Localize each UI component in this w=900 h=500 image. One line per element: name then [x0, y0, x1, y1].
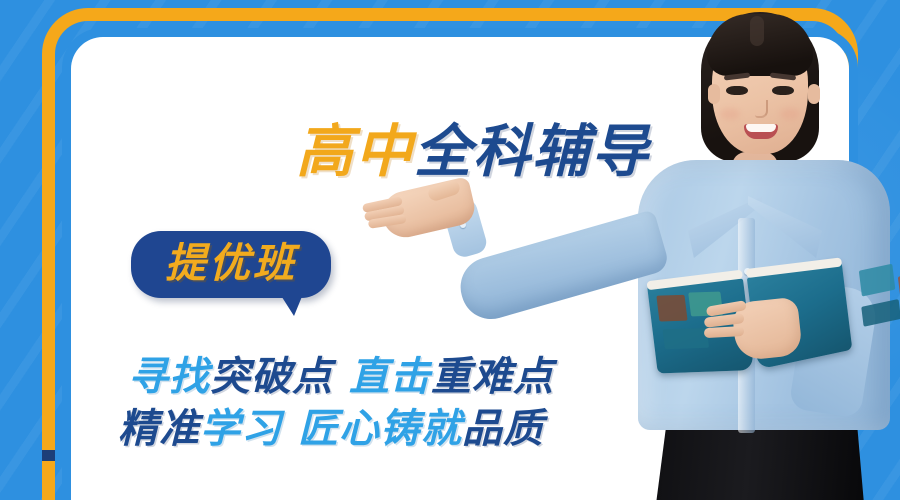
subtitle-1-seg-c: 直击 — [349, 355, 431, 399]
frame-cap-left — [42, 450, 55, 461]
subtitle-1-seg-b: 突破点 — [210, 355, 333, 399]
badge-tail-icon — [280, 294, 303, 316]
subtitle-2-seg-b: 学习 — [200, 407, 282, 451]
page-title: 高中全科辅导 — [296, 124, 650, 181]
ear-left — [708, 84, 720, 104]
ear-right — [808, 84, 820, 104]
cheek-left — [720, 108, 740, 120]
finger — [704, 326, 744, 338]
headline-highlight: 高中 — [296, 120, 414, 184]
teeth — [746, 124, 776, 132]
badge-label: 提优班 — [165, 242, 297, 285]
subtitle-line-2: 精准学习匠心铸就品质 — [118, 409, 544, 449]
subtitle-1-seg-d: 重难点 — [431, 355, 554, 399]
book-image-block — [656, 295, 687, 322]
eye-left — [726, 86, 748, 95]
subtitle-2-seg-a: 精准 — [118, 407, 200, 451]
cheek-right — [780, 108, 800, 120]
subtitle-1-seg-a: 寻找 — [128, 355, 210, 399]
promo-banner: 高中全科辅导 提优班 寻找突破点直击重难点 精准学习匠心铸就品质 — [0, 0, 900, 500]
eye-right — [772, 86, 794, 95]
teacher-figure — [600, 0, 900, 500]
hair-part — [750, 16, 764, 46]
nose — [755, 100, 768, 118]
book-image-block — [662, 328, 709, 349]
subtitle-2-seg-c: 匠心铸就 — [298, 407, 462, 451]
mouth — [744, 124, 778, 139]
badge-bubble: 提优班 — [131, 231, 331, 298]
subtitle-2-seg-d: 品质 — [462, 407, 544, 451]
course-badge: 提优班 — [131, 231, 331, 298]
subtitle-line-1: 寻找突破点直击重难点 — [128, 357, 554, 397]
